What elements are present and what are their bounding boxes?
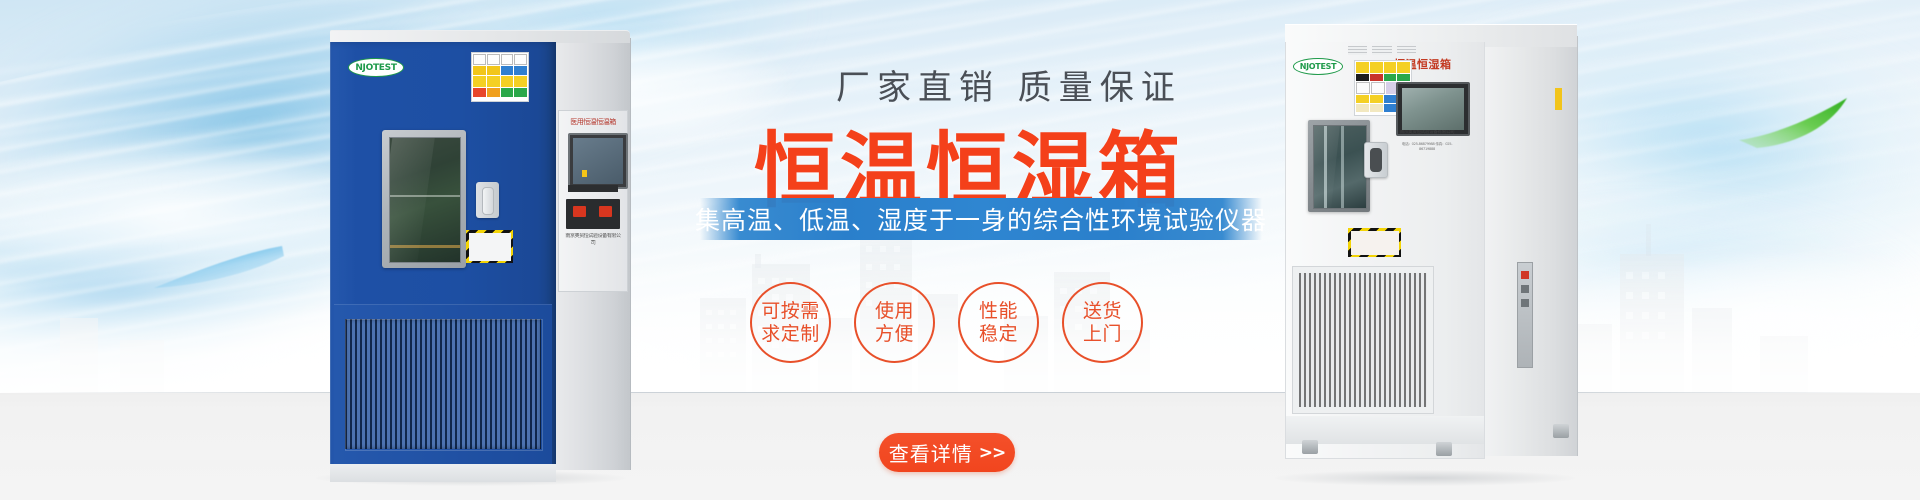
control-display-right[interactable] [1396, 82, 1470, 136]
warning-label-panel-left [471, 52, 529, 102]
badge-line-2: 上门 [1083, 323, 1122, 345]
right-unit-front-body: NJOTEST 恒温恒湿箱 [1285, 42, 1485, 459]
control-display-left[interactable] [568, 133, 628, 189]
right-unit-shadow [1275, 470, 1575, 486]
feature-badge-stable[interactable]: 性能 稳定 [958, 282, 1039, 363]
feature-badge-easy-use[interactable]: 使用 方便 [854, 282, 935, 363]
leaf-icon-right [1735, 92, 1855, 152]
marketing-copy-block: 厂家直销 质量保证 恒温恒湿箱 集高温、低温、湿度于一身的综合性环境试验仪器 可… [700, 0, 1260, 500]
view-details-button[interactable]: 查看详情 >> [879, 433, 1015, 472]
indicator-power-left [599, 206, 612, 217]
badge-line-2: 方便 [875, 323, 914, 345]
feature-badge-list: 可按需 求定制 使用 方便 性能 稳定 送货 上门 [750, 282, 1143, 363]
chamber-viewing-window-right [1308, 120, 1370, 212]
badge-line-1: 性能 [979, 300, 1018, 322]
spec-plate-right [1348, 228, 1401, 257]
product-right-unit: NJOTEST 恒温恒湿箱 [1285, 18, 1577, 490]
badge-line-2: 稳定 [979, 323, 1018, 345]
control-panel-left[interactable]: 医用恒温恒温箱 南京奥贸恒试验设备有限公司 [558, 110, 628, 292]
left-door-seam [330, 42, 331, 470]
badge-line-1: 送货 [1083, 300, 1122, 322]
control-panel-contact-right: 电话：025-86879988 传真：025-86719888 [1394, 142, 1460, 151]
door-handle-left[interactable] [476, 182, 499, 218]
base-plinth-left [330, 464, 556, 482]
feature-badge-delivery[interactable]: 送货 上门 [1062, 282, 1143, 363]
badge-line-1: 可按需 [761, 300, 820, 322]
caster-foot-right [1553, 424, 1569, 438]
lower-door-left [334, 304, 552, 465]
brand-logo-njotest-left: NJOTEST [348, 58, 404, 77]
top-vent-slots-right [1348, 46, 1416, 55]
tagline: 厂家直销 质量保证 [836, 60, 1182, 109]
side-sticker-left [582, 170, 587, 177]
control-panel-title-left: 医用恒温恒温箱 [564, 117, 622, 128]
spec-plate-left [466, 230, 513, 263]
side-control-strip-right[interactable] [1517, 262, 1533, 368]
chamber-viewing-window-left [382, 130, 466, 268]
side-sticker-right [1555, 88, 1562, 110]
promo-banner: NJOTEST [0, 0, 1920, 500]
lower-panel-right [1292, 266, 1434, 414]
left-unit-blue-body: NJOTEST [330, 42, 556, 470]
indicator-row-left [566, 199, 620, 229]
subtitle-text: 集高温、低温、湿度于一身的综合性环境试验仪器 [695, 201, 1267, 237]
door-handle-right[interactable] [1364, 142, 1388, 178]
right-unit-side-body [1481, 36, 1578, 456]
display-strip-left [568, 185, 618, 192]
cta-label: 查看详情 [889, 438, 973, 467]
caster-foot-left [1302, 440, 1318, 454]
chevron-right-icon: >> [979, 443, 1006, 463]
ventilation-grille-right [1299, 273, 1427, 407]
brand-logo-njotest-right: NJOTEST [1293, 58, 1343, 75]
feature-badge-custom[interactable]: 可按需 求定制 [750, 282, 831, 363]
product-left-unit: NJOTEST [330, 30, 630, 490]
control-panel-company-left: 南京奥贸恒试验设备有限公司 [564, 233, 622, 246]
control-panel-company-right: 南京奥贸恒试验设备有限公司 [1394, 130, 1460, 136]
caster-foot-mid [1436, 442, 1452, 456]
indicator-run-left [573, 206, 586, 217]
badge-line-2: 求定制 [761, 323, 820, 345]
subtitle-bar: 集高温、低温、湿度于一身的综合性环境试验仪器 [700, 198, 1262, 240]
badge-line-1: 使用 [875, 300, 914, 322]
